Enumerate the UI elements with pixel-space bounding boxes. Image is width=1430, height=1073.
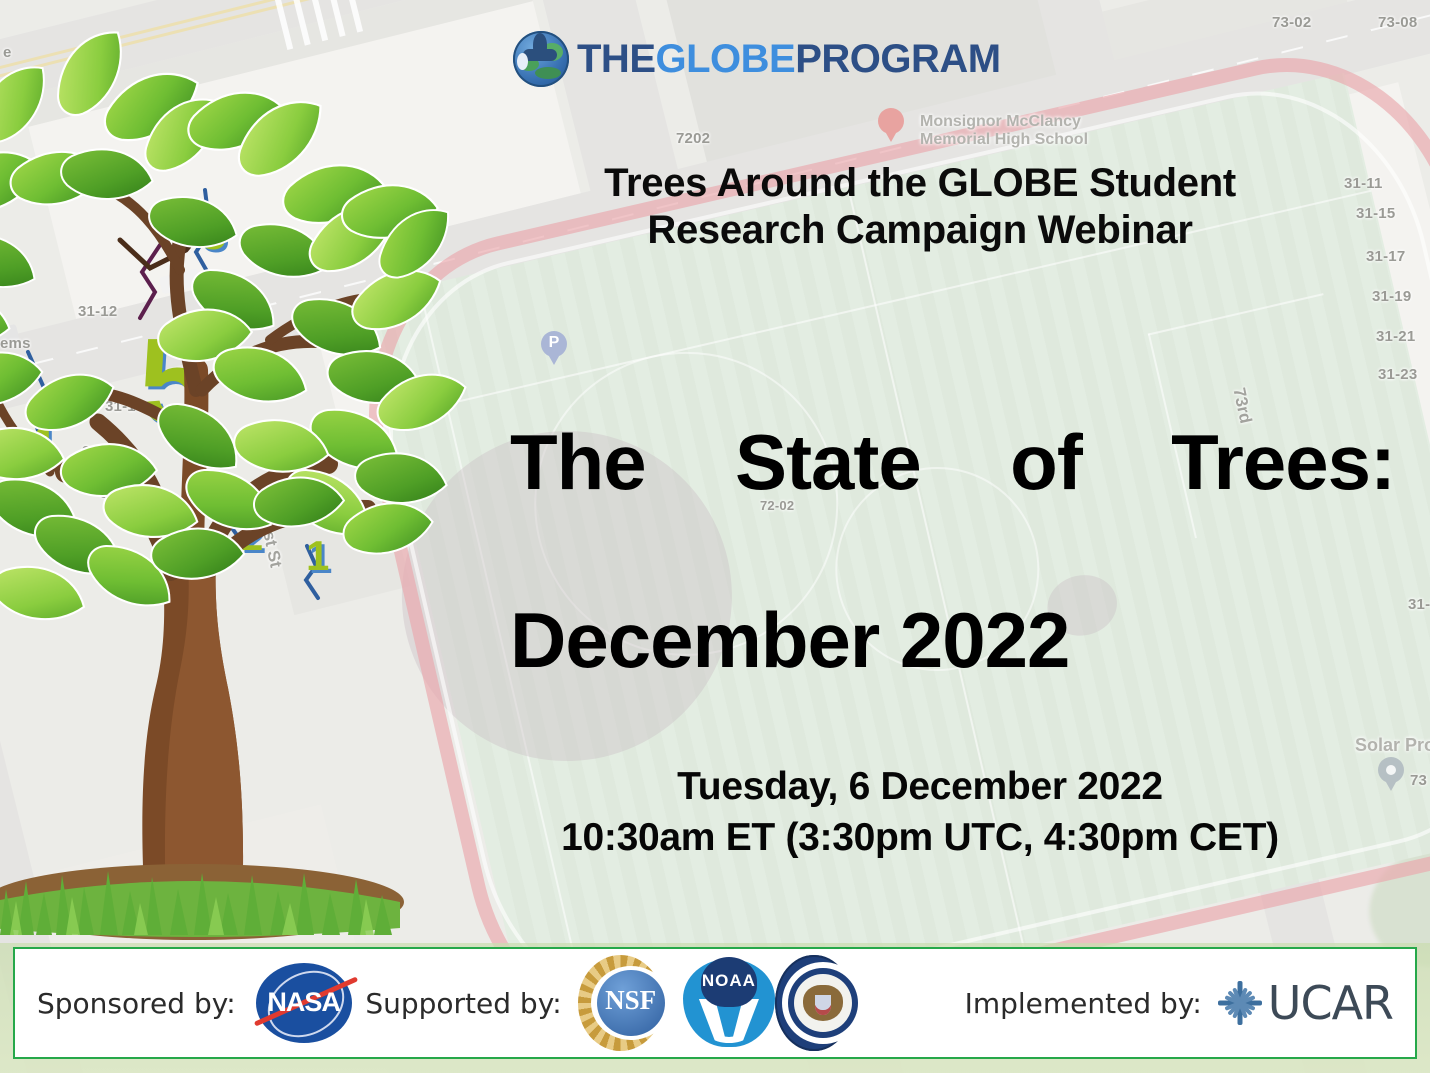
title-line-1: The State of Trees: <box>510 418 1395 596</box>
title-line-2: December 2022 <box>510 596 1395 685</box>
parking-pin-label: P <box>549 334 560 352</box>
webinar-time: 10:30am ET (3:30pm UTC, 4:30pm CET) <box>561 816 1279 859</box>
map-address-label: 31-23 <box>1378 366 1417 383</box>
poi-school-label: Monsignor McClancy Memorial High School <box>920 113 1088 149</box>
sponsored-by-label: Sponsored by: <box>37 987 236 1020</box>
globe-program-logo[interactable]: THEGLOBEPROGRAM <box>513 31 1001 87</box>
sponsor-footer: Sponsored by: NASA Supported by: NSF NOA… <box>13 947 1417 1059</box>
nsf-wordmark: NSF <box>578 985 684 1016</box>
page-title: The State of Trees: December 2022 <box>510 418 1395 685</box>
webinar-subtitle: Trees Around the GLOBE Student Research … <box>420 160 1420 254</box>
ucar-starburst-icon <box>1218 981 1262 1025</box>
ucar-logo: UCAR <box>1218 976 1393 1030</box>
subtitle-line-2: Research Campaign Webinar <box>647 208 1192 252</box>
globe-wordmark: THEGLOBEPROGRAM <box>577 39 1001 79</box>
nsf-logo: NSF <box>578 955 663 1051</box>
map-pin-parking[interactable]: P <box>541 331 567 357</box>
noaa-wordmark: NOAA <box>679 971 779 991</box>
nasa-wordmark: NASA <box>252 987 356 1018</box>
globe-icon <box>513 31 569 87</box>
poi-school-line1: Monsignor McClancy <box>920 113 1081 130</box>
webinar-date: Tuesday, 6 December 2022 <box>677 765 1163 808</box>
poi-school-line2: Memorial High School <box>920 131 1088 148</box>
map-address-label: 31-19 <box>1372 288 1411 305</box>
map-address-label: 31-3 <box>1408 596 1430 613</box>
implemented-by-label: Implemented by: <box>965 987 1202 1020</box>
brand-program: PROGRAM <box>795 37 1000 81</box>
map-address-label: 73-02 <box>1272 14 1311 31</box>
map-address-label: 7202 <box>676 130 710 147</box>
subtitle-line-1: Trees Around the GLOBE Student <box>604 161 1236 205</box>
map-address-label: 31-21 <box>1376 328 1415 345</box>
ucar-wordmark: UCAR <box>1268 976 1393 1030</box>
brand-globe: GLOBE <box>656 37 796 81</box>
map-pin-school[interactable] <box>878 108 904 134</box>
nasa-logo: NASA <box>252 959 336 1047</box>
brand-the: THE <box>577 37 656 81</box>
webinar-datetime: Tuesday, 6 December 2022 10:30am ET (3:3… <box>415 762 1425 863</box>
poi-solar-label: Solar Pro <box>1355 735 1430 755</box>
slide-canvas: e 70-10 70-8 7202 72-02 31-12 31-16 31-1… <box>0 0 1430 1073</box>
noaa-logo: NOAA <box>679 953 759 1053</box>
map-address-label: 73-08 <box>1378 14 1417 31</box>
supported-by-label: Supported by: <box>365 987 561 1020</box>
sponsor-footer-band: Sponsored by: NASA Supported by: NSF NOA… <box>0 943 1430 1073</box>
department-of-state-seal <box>775 955 852 1051</box>
